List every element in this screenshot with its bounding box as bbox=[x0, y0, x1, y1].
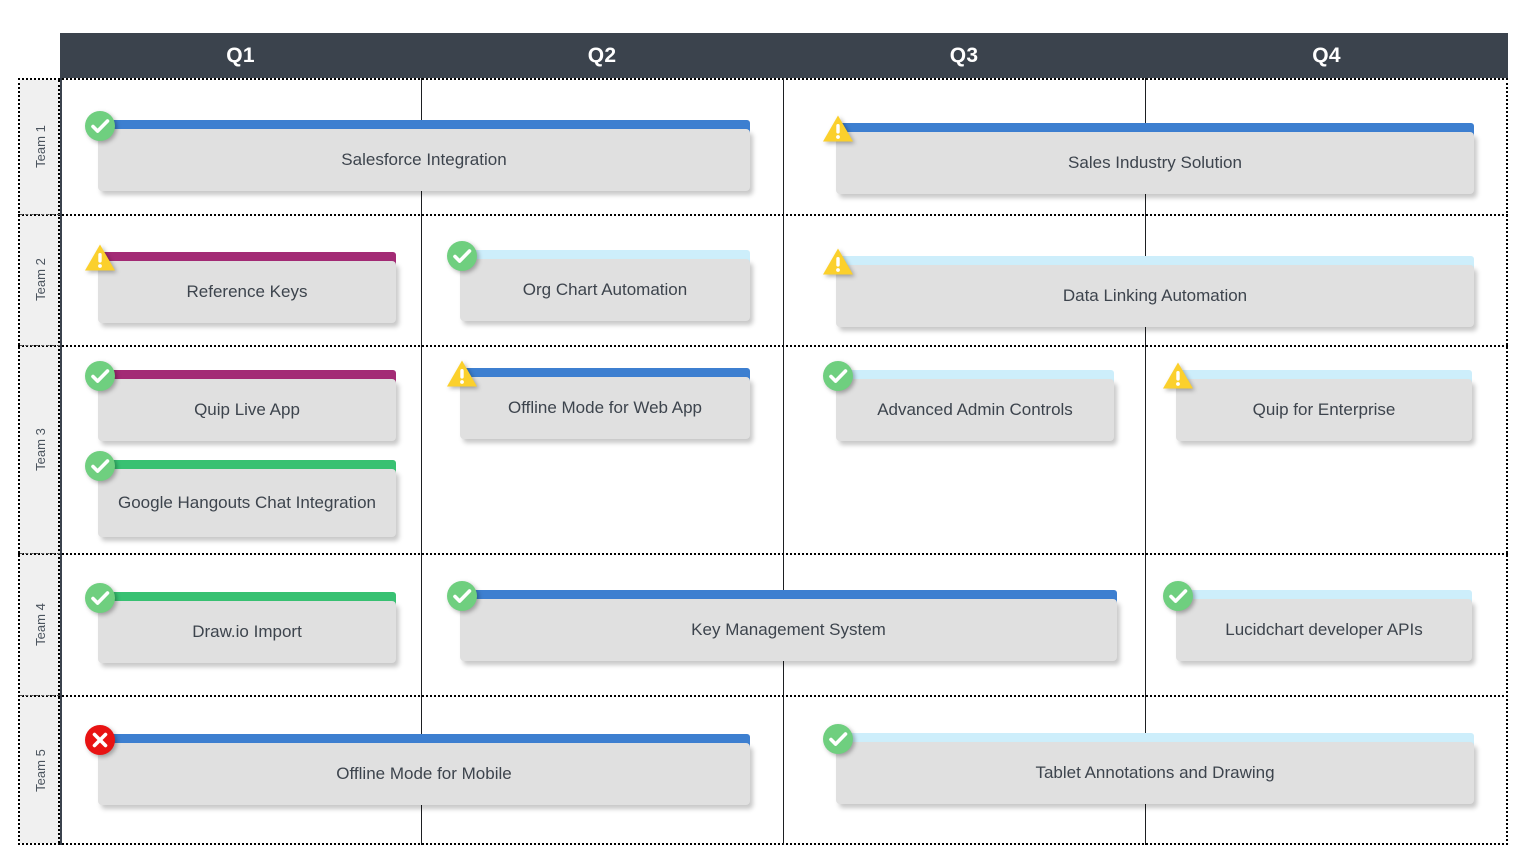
warning-triangle-icon bbox=[1162, 360, 1194, 392]
task-label: Org Chart Automation bbox=[460, 259, 750, 321]
swimlane-label-text: Team 5 bbox=[33, 749, 48, 792]
task-label: Lucidchart developer APIs bbox=[1176, 599, 1472, 661]
check-circle-icon bbox=[84, 360, 116, 392]
swimlane-separator bbox=[20, 214, 60, 215]
warning-triangle-icon bbox=[446, 358, 478, 390]
column-divider-1 bbox=[421, 78, 422, 845]
check-circle-icon bbox=[446, 580, 478, 612]
task-card[interactable]: Google Hangouts Chat Integration bbox=[98, 460, 396, 537]
check-circle-icon bbox=[84, 110, 116, 142]
quarter-header-q4[interactable]: Q4 bbox=[1145, 33, 1508, 78]
task-card[interactable]: Tablet Annotations and Drawing bbox=[836, 733, 1474, 804]
swimlane-label-team-4[interactable]: Team 4 bbox=[20, 553, 60, 695]
swimlane-label-text: Team 4 bbox=[33, 603, 48, 646]
warning-triangle-icon bbox=[822, 246, 854, 278]
task-card[interactable]: Advanced Admin Controls bbox=[836, 370, 1114, 441]
swimlane-label-text: Team 2 bbox=[33, 258, 48, 301]
swimlane-label-team-2[interactable]: Team 2 bbox=[20, 214, 60, 345]
error-circle-icon bbox=[84, 724, 116, 756]
task-label: Google Hangouts Chat Integration bbox=[98, 469, 396, 537]
task-card[interactable]: Lucidchart developer APIs bbox=[1176, 590, 1472, 661]
quarter-header-q2[interactable]: Q2 bbox=[421, 33, 783, 78]
check-circle-icon bbox=[822, 360, 854, 392]
column-divider-2 bbox=[783, 78, 784, 845]
swimlane-label-text: Team 3 bbox=[33, 428, 48, 471]
task-label: Key Management System bbox=[460, 599, 1117, 661]
swimlane-label-text: Team 1 bbox=[33, 125, 48, 168]
row-divider-3 bbox=[18, 553, 1508, 555]
warning-triangle-icon bbox=[84, 242, 116, 274]
task-card[interactable]: Offline Mode for Mobile bbox=[98, 734, 750, 805]
task-label: Salesforce Integration bbox=[98, 129, 750, 191]
task-card[interactable]: Draw.io Import bbox=[98, 592, 396, 663]
swimlane-label-team-3[interactable]: Team 3 bbox=[20, 345, 60, 553]
check-circle-icon bbox=[446, 240, 478, 272]
task-label: Advanced Admin Controls bbox=[836, 379, 1114, 441]
task-card[interactable]: Key Management System bbox=[460, 590, 1117, 661]
task-card[interactable]: Salesforce Integration bbox=[98, 120, 750, 191]
task-label: Tablet Annotations and Drawing bbox=[836, 742, 1474, 804]
task-card[interactable]: Sales Industry Solution bbox=[836, 123, 1474, 194]
check-circle-icon bbox=[84, 582, 116, 614]
row-divider-4 bbox=[18, 695, 1508, 697]
task-card[interactable]: Data Linking Automation bbox=[836, 256, 1474, 327]
roadmap-canvas: Q1Q2Q3Q4 Team 1Team 2Team 3Team 4Team 5 … bbox=[0, 0, 1524, 859]
check-circle-icon bbox=[84, 450, 116, 482]
task-label: Offline Mode for Mobile bbox=[98, 743, 750, 805]
task-label: Quip for Enterprise bbox=[1176, 379, 1472, 441]
swimlane-label-team-1[interactable]: Team 1 bbox=[20, 78, 60, 214]
task-card[interactable]: Offline Mode for Web App bbox=[460, 368, 750, 439]
quarter-header-q1[interactable]: Q1 bbox=[60, 33, 421, 78]
row-divider-1 bbox=[18, 214, 1508, 216]
check-circle-icon bbox=[822, 723, 854, 755]
swimlane-label-team-5[interactable]: Team 5 bbox=[20, 695, 60, 845]
task-label: Quip Live App bbox=[98, 379, 396, 441]
task-label: Offline Mode for Web App bbox=[460, 377, 750, 439]
swimlane-separator bbox=[20, 345, 60, 346]
task-label: Sales Industry Solution bbox=[836, 132, 1474, 194]
check-circle-icon bbox=[1162, 580, 1194, 612]
row-divider-2 bbox=[18, 345, 1508, 347]
task-label: Draw.io Import bbox=[98, 601, 396, 663]
swimlane-separator bbox=[20, 553, 60, 554]
task-card[interactable]: Quip for Enterprise bbox=[1176, 370, 1472, 441]
task-card[interactable]: Reference Keys bbox=[98, 252, 396, 323]
task-card[interactable]: Org Chart Automation bbox=[460, 250, 750, 321]
task-label: Reference Keys bbox=[98, 261, 396, 323]
task-label: Data Linking Automation bbox=[836, 265, 1474, 327]
task-card[interactable]: Quip Live App bbox=[98, 370, 396, 441]
quarter-header-q3[interactable]: Q3 bbox=[783, 33, 1145, 78]
warning-triangle-icon bbox=[822, 113, 854, 145]
swimlane-separator bbox=[20, 695, 60, 696]
